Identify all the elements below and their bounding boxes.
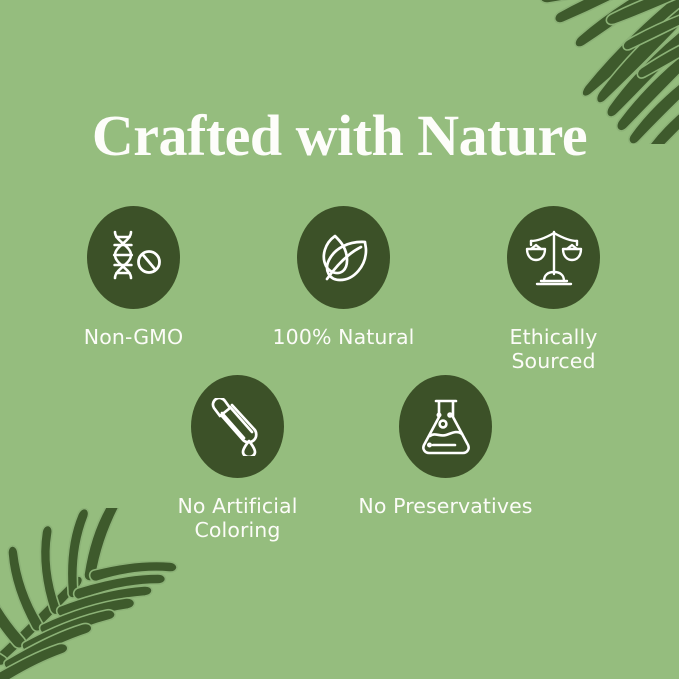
badge-no-artificial-coloring[interactable]: No Artificial Coloring bbox=[186, 375, 290, 542]
badge-label: 100% Natural bbox=[249, 325, 439, 349]
dropper-icon bbox=[210, 398, 266, 456]
badge-icon-circle bbox=[399, 375, 492, 478]
badge-icon-circle bbox=[87, 206, 180, 309]
balance-scales-icon bbox=[525, 229, 583, 287]
badge-label: Non-GMO bbox=[39, 325, 229, 349]
page-title: Crafted with Nature bbox=[0, 106, 679, 167]
flask-icon bbox=[419, 398, 473, 456]
badge-ethically-sourced[interactable]: Ethically Sourced bbox=[502, 206, 606, 373]
badge-label: No Artificial Coloring bbox=[143, 494, 333, 542]
badge-icon-circle bbox=[191, 375, 284, 478]
leaf-icon bbox=[315, 230, 373, 286]
badge-icon-circle bbox=[297, 206, 390, 309]
badge-icon-circle bbox=[507, 206, 600, 309]
infographic-canvas: Crafted with Nature bbox=[0, 0, 679, 679]
dna-no-gmo-icon bbox=[104, 229, 164, 287]
badge-100-natural[interactable]: 100% Natural bbox=[292, 206, 396, 349]
badge-non-gmo[interactable]: Non-GMO bbox=[82, 206, 186, 349]
badge-row-bottom: No Artificial Coloring No bbox=[0, 375, 679, 542]
badge-no-preservatives[interactable]: No Preservatives bbox=[394, 375, 498, 518]
badge-label: Ethically Sourced bbox=[439, 325, 669, 373]
badge-label: No Preservatives bbox=[331, 494, 561, 518]
badge-row-top: Non-GMO 100% Natural bbox=[0, 206, 679, 373]
